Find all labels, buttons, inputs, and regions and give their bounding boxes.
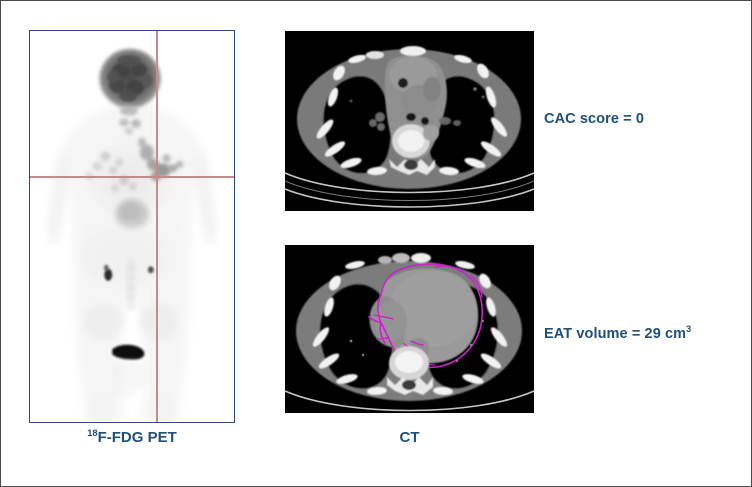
ct-axial-cardiac-image [285,245,534,413]
pet-caption-text: F-FDG PET [98,429,177,446]
ct-axial-cardiac-panel [285,245,534,413]
ct-axial-mediastinum-panel [285,31,534,211]
pet-caption-isotope-number: 18 [87,428,97,438]
ct-axial-mediastinum-image [285,31,534,211]
figure-container: CAC score = 0 EAT volume = 29 cm3 18F-FD… [0,0,752,487]
pet-mip-rendering [30,31,234,422]
pet-panel [29,30,235,423]
ct-caption-text: CT [400,429,420,446]
cac-score-label: CAC score = 0 [544,111,644,127]
pet-crosshair-vertical[interactable] [156,31,158,422]
pet-mip-image [30,31,234,422]
pet-caption: 18F-FDG PET [29,429,235,446]
ct-caption: CT [285,429,534,446]
eat-volume-text: EAT volume = 29 cm [544,326,686,342]
pet-crosshair-horizontal[interactable] [30,176,234,178]
cac-score-text: CAC score = 0 [544,111,644,127]
eat-volume-label: EAT volume = 29 cm3 [544,326,691,342]
eat-volume-unit-exponent: 3 [686,324,691,334]
